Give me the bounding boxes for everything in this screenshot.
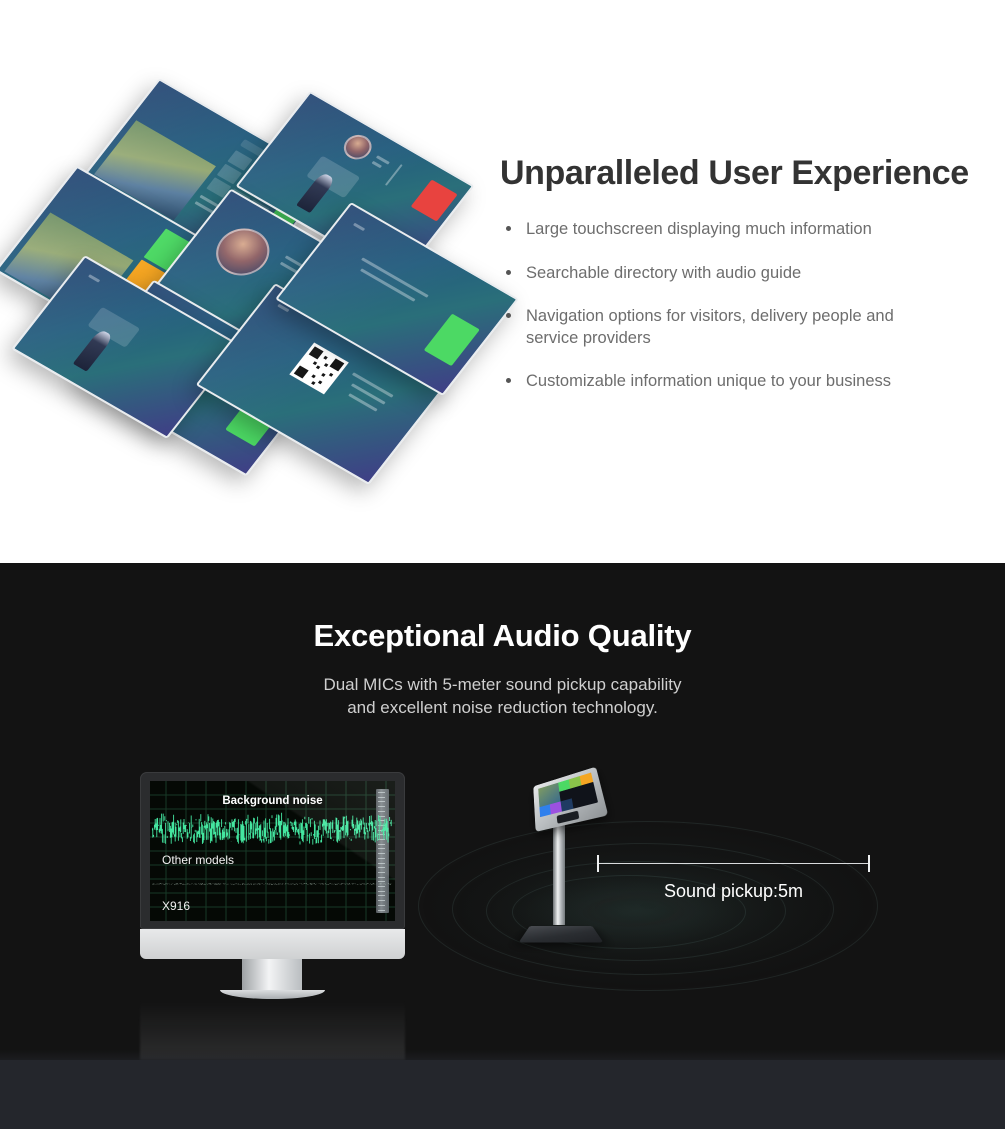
section-title: Exceptional Audio Quality	[0, 618, 1005, 654]
kiosk-pole	[553, 817, 565, 925]
monitor-screen: Background noise Other models X916	[150, 781, 395, 921]
floor-band	[0, 1060, 1005, 1129]
section-subtitle: Dual MICs with 5-meter sound pickup capa…	[0, 673, 1005, 720]
kiosk-screen	[538, 773, 598, 818]
monitor-bezel: Background noise Other models X916	[140, 772, 405, 929]
audio-quality-section: Exceptional Audio Quality Dual MICs with…	[0, 563, 1005, 1129]
kiosk-base	[519, 926, 604, 943]
screen-glare	[150, 781, 395, 921]
kiosk-screens-collage: Akuvox	[10, 120, 500, 465]
noise-comparison-monitor: Background noise Other models X916	[140, 772, 405, 980]
list-item: Customizable information unique to your …	[500, 370, 990, 392]
kiosk-tile-orange	[580, 773, 594, 786]
list-item-label: Searchable directory with audio guide	[526, 264, 801, 282]
list-item-label: Navigation options for visitors, deliver…	[526, 307, 894, 347]
measure-label: Sound pickup:5m	[597, 881, 870, 902]
kiosk-device	[520, 773, 615, 943]
measure-cap-left	[597, 855, 599, 872]
monitor-stand-base	[220, 990, 325, 999]
list-item-label: Customizable information unique to your …	[526, 372, 891, 390]
subtitle-line-2: and excellent noise reduction technology…	[347, 698, 658, 717]
measure-bar	[597, 863, 870, 864]
page-title: Unparalleled User Experience	[500, 155, 990, 192]
monitor-chin	[140, 929, 405, 959]
bullet-icon	[506, 313, 511, 318]
bullet-icon	[506, 378, 511, 383]
product-feature-page: Akuvox	[0, 0, 1005, 1129]
measure-cap-right	[868, 855, 870, 872]
user-experience-section: Akuvox	[0, 0, 1005, 563]
qr-code-icon	[289, 343, 349, 395]
kiosk-head	[533, 767, 608, 832]
list-item: Navigation options for visitors, deliver…	[500, 305, 900, 350]
distance-measure-line	[597, 863, 870, 864]
feature-copy-block: Unparalleled User Experience Large touch…	[500, 155, 990, 414]
monitor-stand-neck	[242, 959, 302, 992]
kiosk-card-reader	[557, 811, 580, 824]
bullet-icon	[506, 270, 511, 275]
list-item: Large touchscreen displaying much inform…	[500, 218, 990, 240]
feature-list: Large touchscreen displaying much inform…	[500, 218, 990, 392]
list-item-label: Large touchscreen displaying much inform…	[526, 220, 872, 238]
subtitle-line-1: Dual MICs with 5-meter sound pickup capa…	[323, 675, 681, 694]
bullet-icon	[506, 226, 511, 231]
list-item: Searchable directory with audio guide	[500, 262, 990, 284]
